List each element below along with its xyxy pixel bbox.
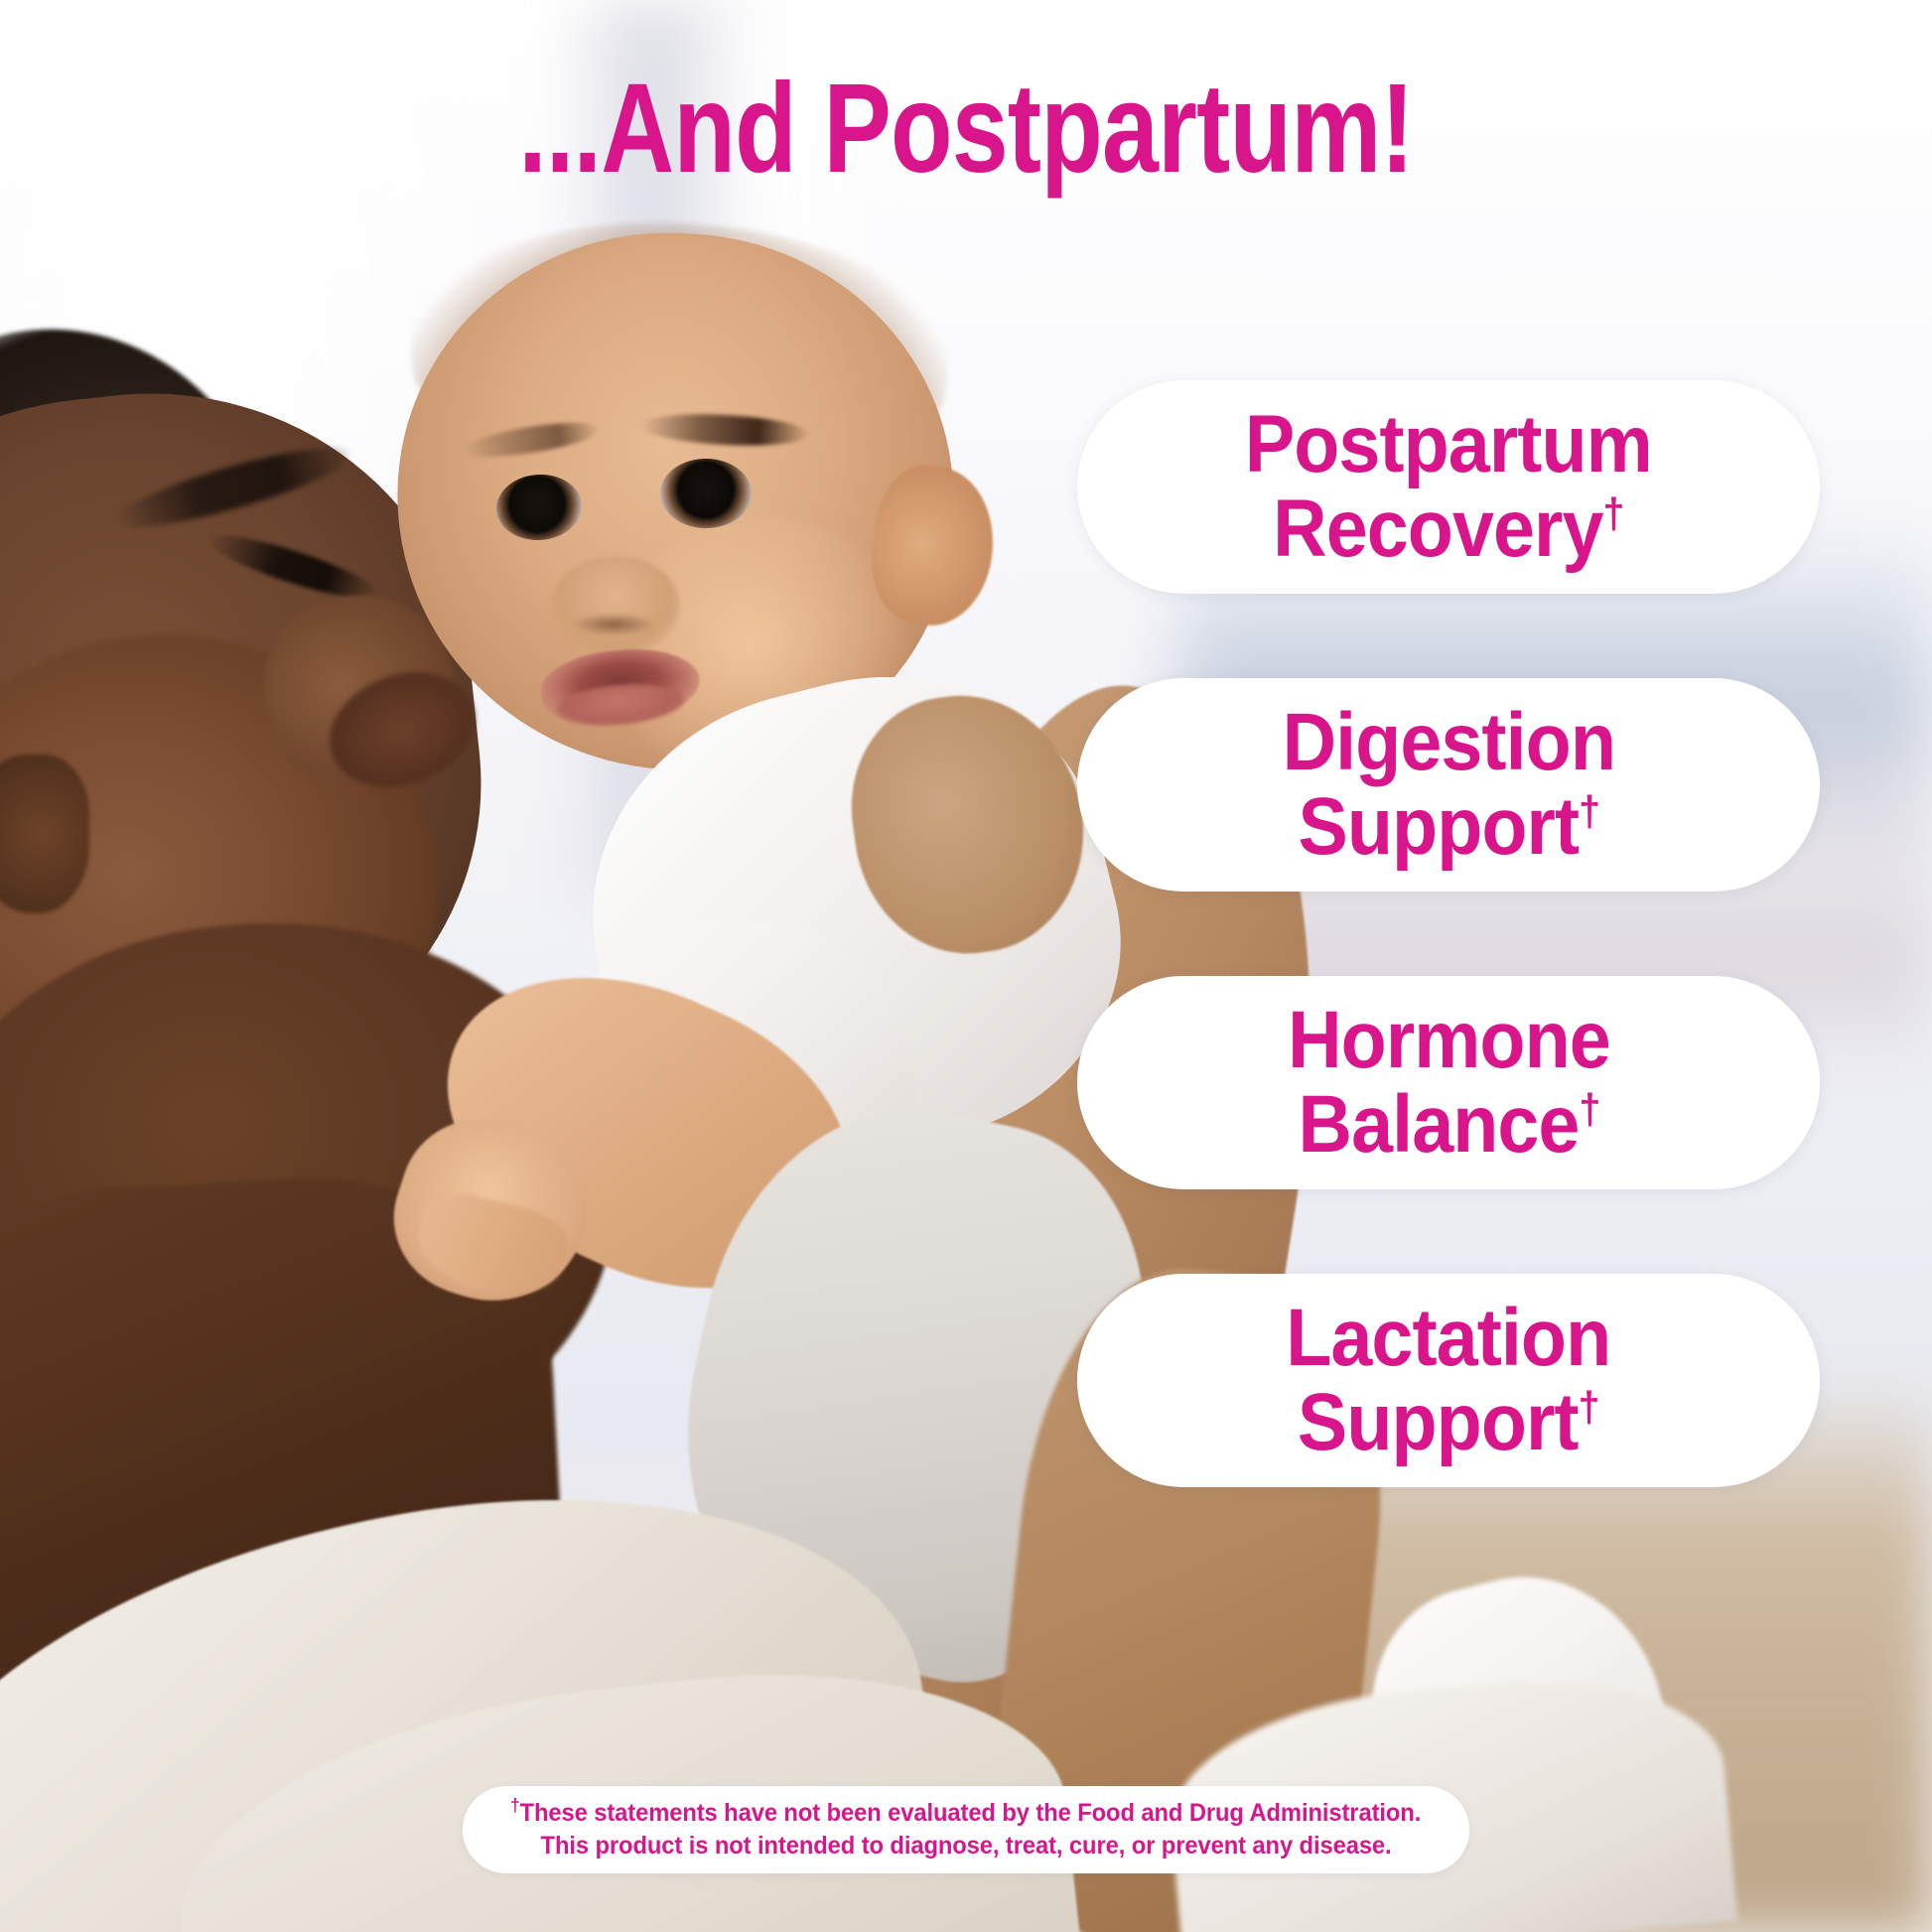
benefit-line-1: Digestion xyxy=(1282,697,1614,787)
footnote-dagger-icon: † xyxy=(1603,489,1624,537)
benefit-line-1: Postpartum xyxy=(1245,399,1652,489)
benefit-badge-hormone-balance[interactable]: Hormone Balance† xyxy=(1077,976,1820,1189)
baby-nostrils xyxy=(574,614,653,635)
baby-nose xyxy=(551,556,680,655)
benefit-badge-lactation-support[interactable]: Lactation Support† xyxy=(1077,1274,1820,1487)
footnote-dagger-icon: † xyxy=(1579,1085,1599,1133)
benefit-line-2: Support xyxy=(1298,781,1579,872)
page-title: ...And Postpartum! xyxy=(194,66,1739,193)
footnote-dagger-icon: † xyxy=(510,1796,519,1816)
marketing-graphic: ...And Postpartum! Postpartum Recovery† … xyxy=(0,0,1932,1932)
benefit-badge-label: Lactation Support† xyxy=(1286,1297,1610,1464)
benefit-badge-digestion-support[interactable]: Digestion Support† xyxy=(1077,678,1820,892)
disclaimer-line-1: †These statements have not been evaluate… xyxy=(510,1797,1421,1830)
benefit-line-2: Support xyxy=(1298,1377,1579,1467)
benefit-badge-label: Hormone Balance† xyxy=(1288,999,1610,1167)
benefit-badge-label: Digestion Support† xyxy=(1282,701,1614,869)
baby-eye-right xyxy=(660,459,752,528)
fda-disclaimer: †These statements have not been evaluate… xyxy=(463,1786,1469,1873)
disclaimer-text-1: These statements have not been evaluated… xyxy=(520,1799,1422,1827)
mother-ear xyxy=(0,755,89,913)
disclaimer-line-2: This product is not intended to diagnose… xyxy=(540,1830,1391,1863)
benefit-line-2: Recovery xyxy=(1273,483,1602,574)
benefit-badge-list: Postpartum Recovery† Digestion Support† … xyxy=(1077,380,1820,1487)
benefit-badge-postpartum-recovery[interactable]: Postpartum Recovery† xyxy=(1077,380,1820,594)
benefit-badge-label: Postpartum Recovery† xyxy=(1245,403,1652,571)
benefit-line-1: Hormone xyxy=(1288,995,1610,1085)
benefit-line-2: Balance xyxy=(1298,1079,1579,1170)
footnote-dagger-icon: † xyxy=(1579,1383,1599,1431)
benefit-line-1: Lactation xyxy=(1286,1293,1610,1383)
footnote-dagger-icon: † xyxy=(1579,787,1599,835)
